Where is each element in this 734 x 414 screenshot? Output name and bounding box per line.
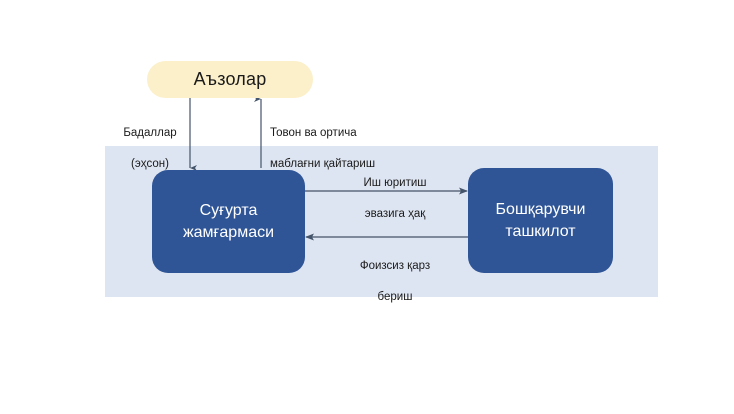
- edge-label-management-fee: Иш юритиш эвазига ҳақ: [325, 160, 465, 238]
- edge-label-contributions-line2: (эҳсон): [110, 157, 190, 173]
- node-managing-organization-label-line2: ташкилот: [505, 221, 575, 243]
- node-members[interactable]: Аъзолар: [147, 61, 313, 98]
- node-insurance-fund-label-line2: жамғармаси: [183, 222, 274, 244]
- diagram-canvas: Аъзолар Суғурта жамғармаси Бошқарувчи та…: [0, 0, 734, 414]
- node-members-label: Аъзолар: [194, 69, 267, 90]
- node-managing-organization[interactable]: Бошқарувчи ташкилот: [468, 168, 613, 273]
- edge-label-interest-free-loan: Фоизсиз қарз бериш: [325, 243, 465, 321]
- edge-label-management-fee-line1: Иш юритиш: [325, 176, 465, 192]
- edge-label-interest-free-loan-line1: Фоизсиз қарз: [325, 259, 465, 275]
- node-insurance-fund-label-line1: Суғурта: [200, 200, 258, 222]
- node-managing-organization-label-line1: Бошқарувчи: [496, 199, 586, 221]
- edge-label-interest-free-loan-line2: бериш: [325, 290, 465, 306]
- edge-label-management-fee-line2: эвазига ҳақ: [325, 207, 465, 223]
- edge-label-payout-line1: Товон ва ортича: [270, 126, 410, 142]
- edge-label-contributions-line1: Бадаллар: [110, 126, 190, 142]
- edge-label-contributions: Бадаллар (эҳсон): [110, 110, 190, 188]
